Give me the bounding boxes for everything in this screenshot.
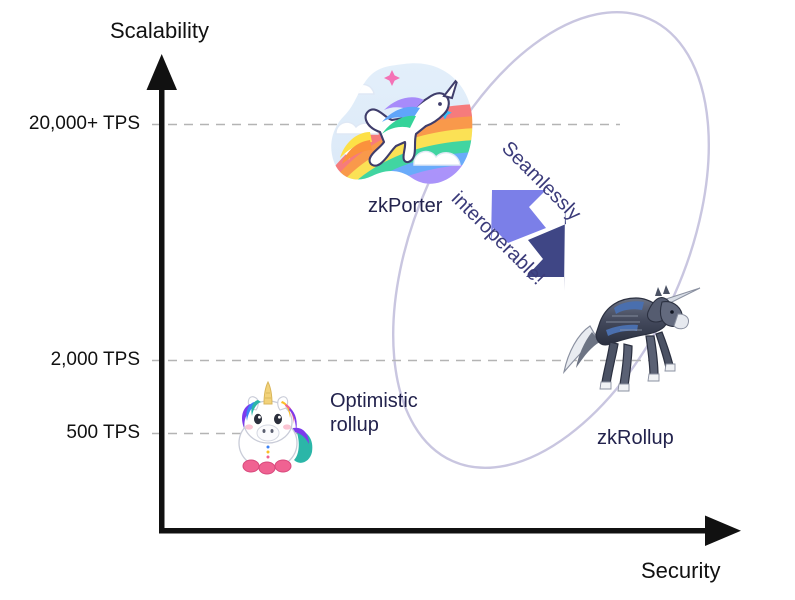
node-label-optimistic-rollup: Optimistic rollup <box>330 389 418 438</box>
y-axis-title: Scalability <box>110 18 209 45</box>
interoperable-annotation-line2: interoperable! <box>446 187 549 290</box>
x-axis-title: Security <box>641 558 720 585</box>
diagram-vector-layer <box>0 0 795 600</box>
node-label-zkrollup: zkRollup <box>597 426 674 450</box>
y-tick-label-20000: 20,000+ TPS <box>0 112 140 135</box>
x-axis-arrowhead <box>705 516 741 547</box>
y-tick-label-2000: 2,000 TPS <box>0 348 140 371</box>
baby-unicorn-icon <box>239 382 312 474</box>
y-axis-line <box>159 74 165 533</box>
x-axis-line <box>159 528 721 534</box>
node-label-zkporter: zkPorter <box>368 194 442 218</box>
y-tick-label-500: 500 TPS <box>0 421 140 444</box>
armored-unicorn-icon <box>564 285 700 391</box>
y-axis-arrowhead <box>147 54 178 90</box>
diagram-canvas: Scalability Security 20,000+ TPS 2,000 T… <box>0 0 795 600</box>
interoperable-annotation-line1: Seamlessly <box>496 137 599 240</box>
